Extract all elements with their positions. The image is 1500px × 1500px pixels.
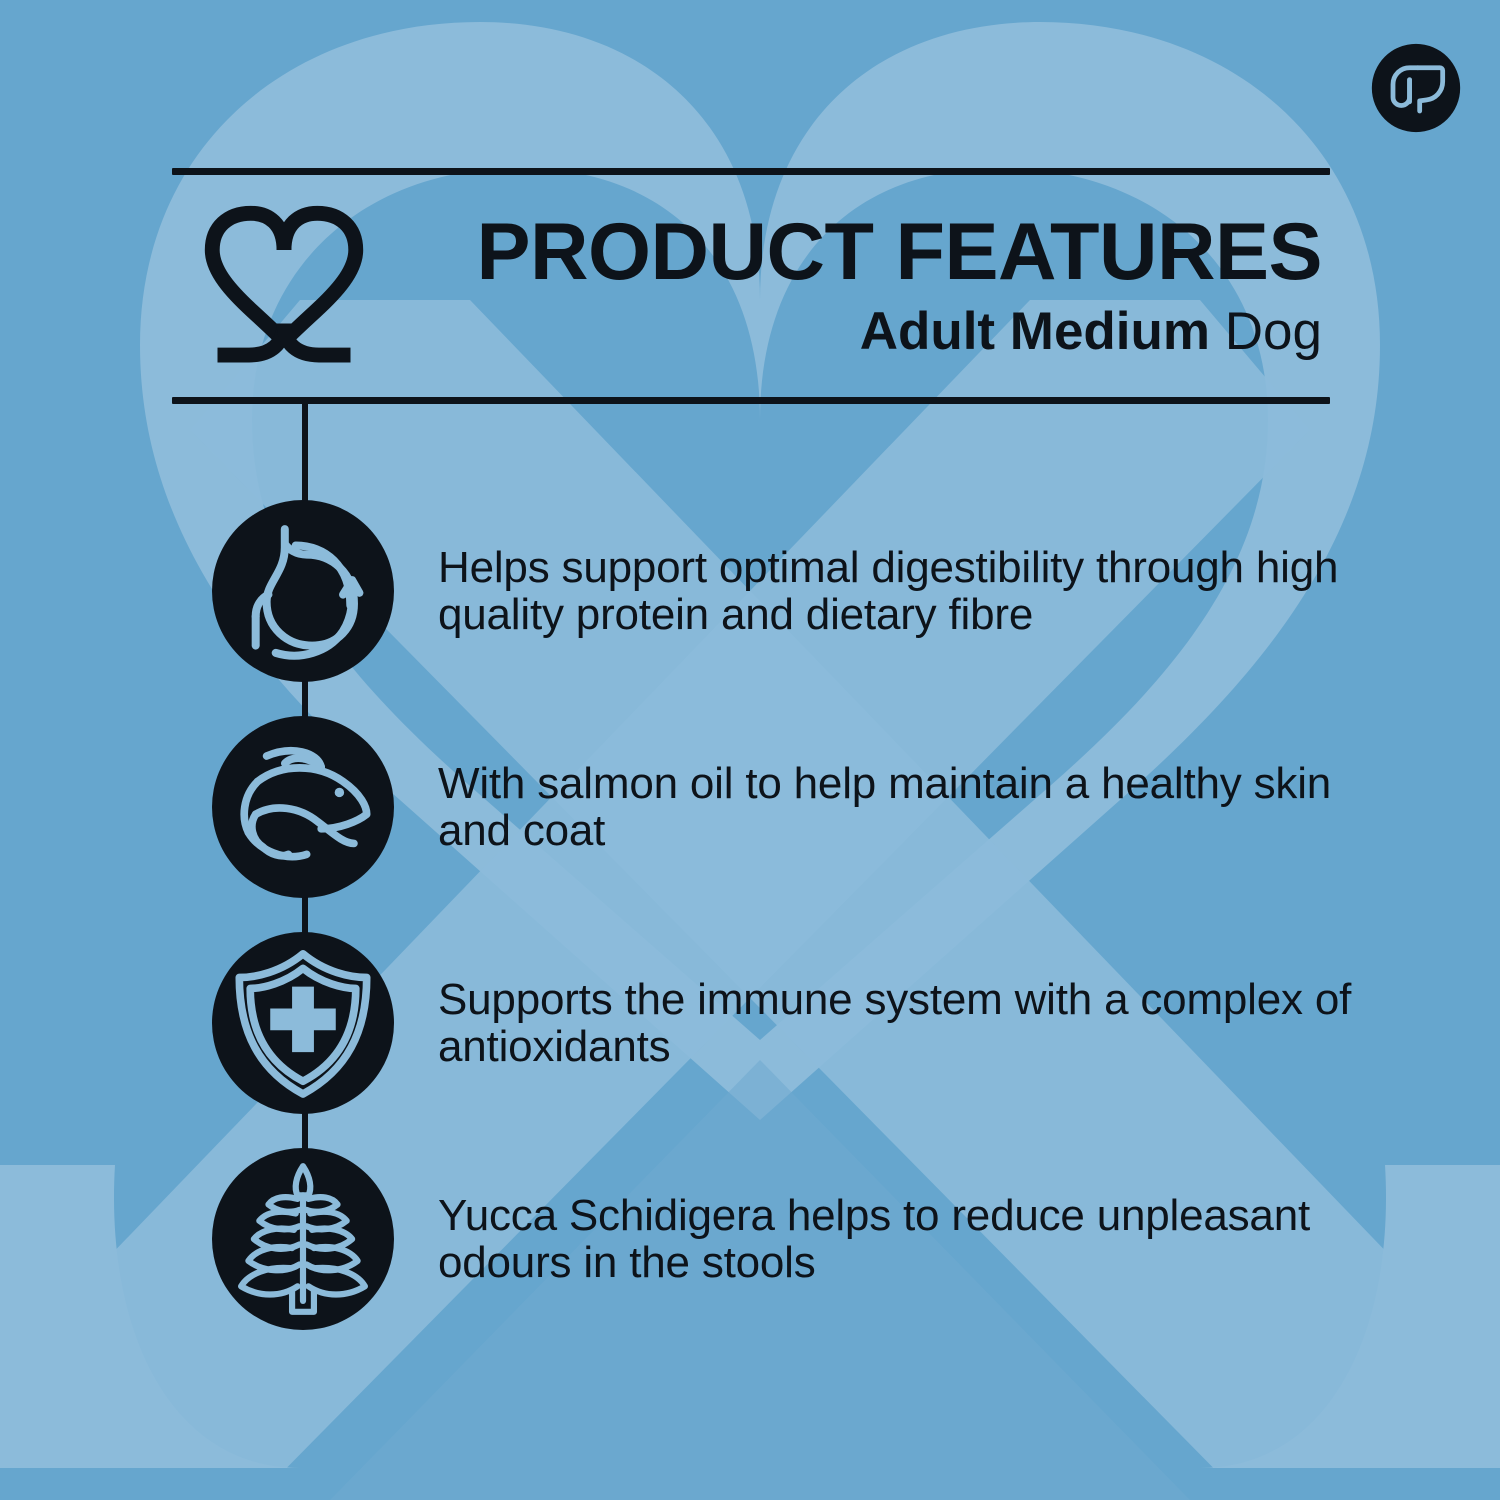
fish-icon-badge <box>212 716 394 898</box>
watermark-bottom-strip <box>0 1468 1500 1500</box>
header-block: PRODUCT FEATURES Adult Medium Dog <box>172 168 1330 404</box>
feature-row: With salmon oil to help maintain a healt… <box>212 716 1472 898</box>
feature-row: Yucca Schidigera helps to reduce unpleas… <box>212 1148 1472 1330</box>
header-text: PRODUCT FEATURES Adult Medium Dog <box>410 213 1330 358</box>
shield-cross-icon <box>212 932 394 1114</box>
feature-text: Helps support optimal digestibility thro… <box>438 544 1398 638</box>
yucca-plant-icon-badge <box>212 1148 394 1330</box>
feature-row: Supports the immune system with a comple… <box>212 932 1472 1114</box>
feature-text: Supports the immune system with a comple… <box>438 976 1398 1070</box>
subtitle-rest: Dog <box>1210 302 1322 361</box>
logo-circle <box>1372 44 1460 132</box>
subtitle-strong: Adult Medium <box>860 302 1210 361</box>
yucca-plant-icon <box>212 1148 394 1330</box>
fish-icon <box>212 716 394 898</box>
page-subtitle: Adult Medium Dog <box>410 305 1322 359</box>
feature-text: With salmon oil to help maintain a healt… <box>438 760 1398 854</box>
stomach-icon <box>212 500 394 682</box>
feature-text: Yucca Schidigera helps to reduce unpleas… <box>438 1192 1398 1286</box>
page-title: PRODUCT FEATURES <box>410 213 1322 292</box>
header-rule-bottom <box>172 397 1330 404</box>
feature-row: Helps support optimal digestibility thro… <box>212 500 1472 682</box>
cross-glyph <box>270 987 336 1053</box>
header-rule-top <box>172 168 1330 175</box>
shield-cross-icon-badge <box>212 932 394 1114</box>
product-features-poster: PRODUCT FEATURES Adult Medium Dog <box>0 0 1500 1500</box>
dog-head-logo <box>1370 42 1462 134</box>
stomach-icon-badge <box>212 500 394 682</box>
header-body: PRODUCT FEATURES Adult Medium Dog <box>172 175 1330 397</box>
heart-ribbon-logo <box>194 201 374 376</box>
